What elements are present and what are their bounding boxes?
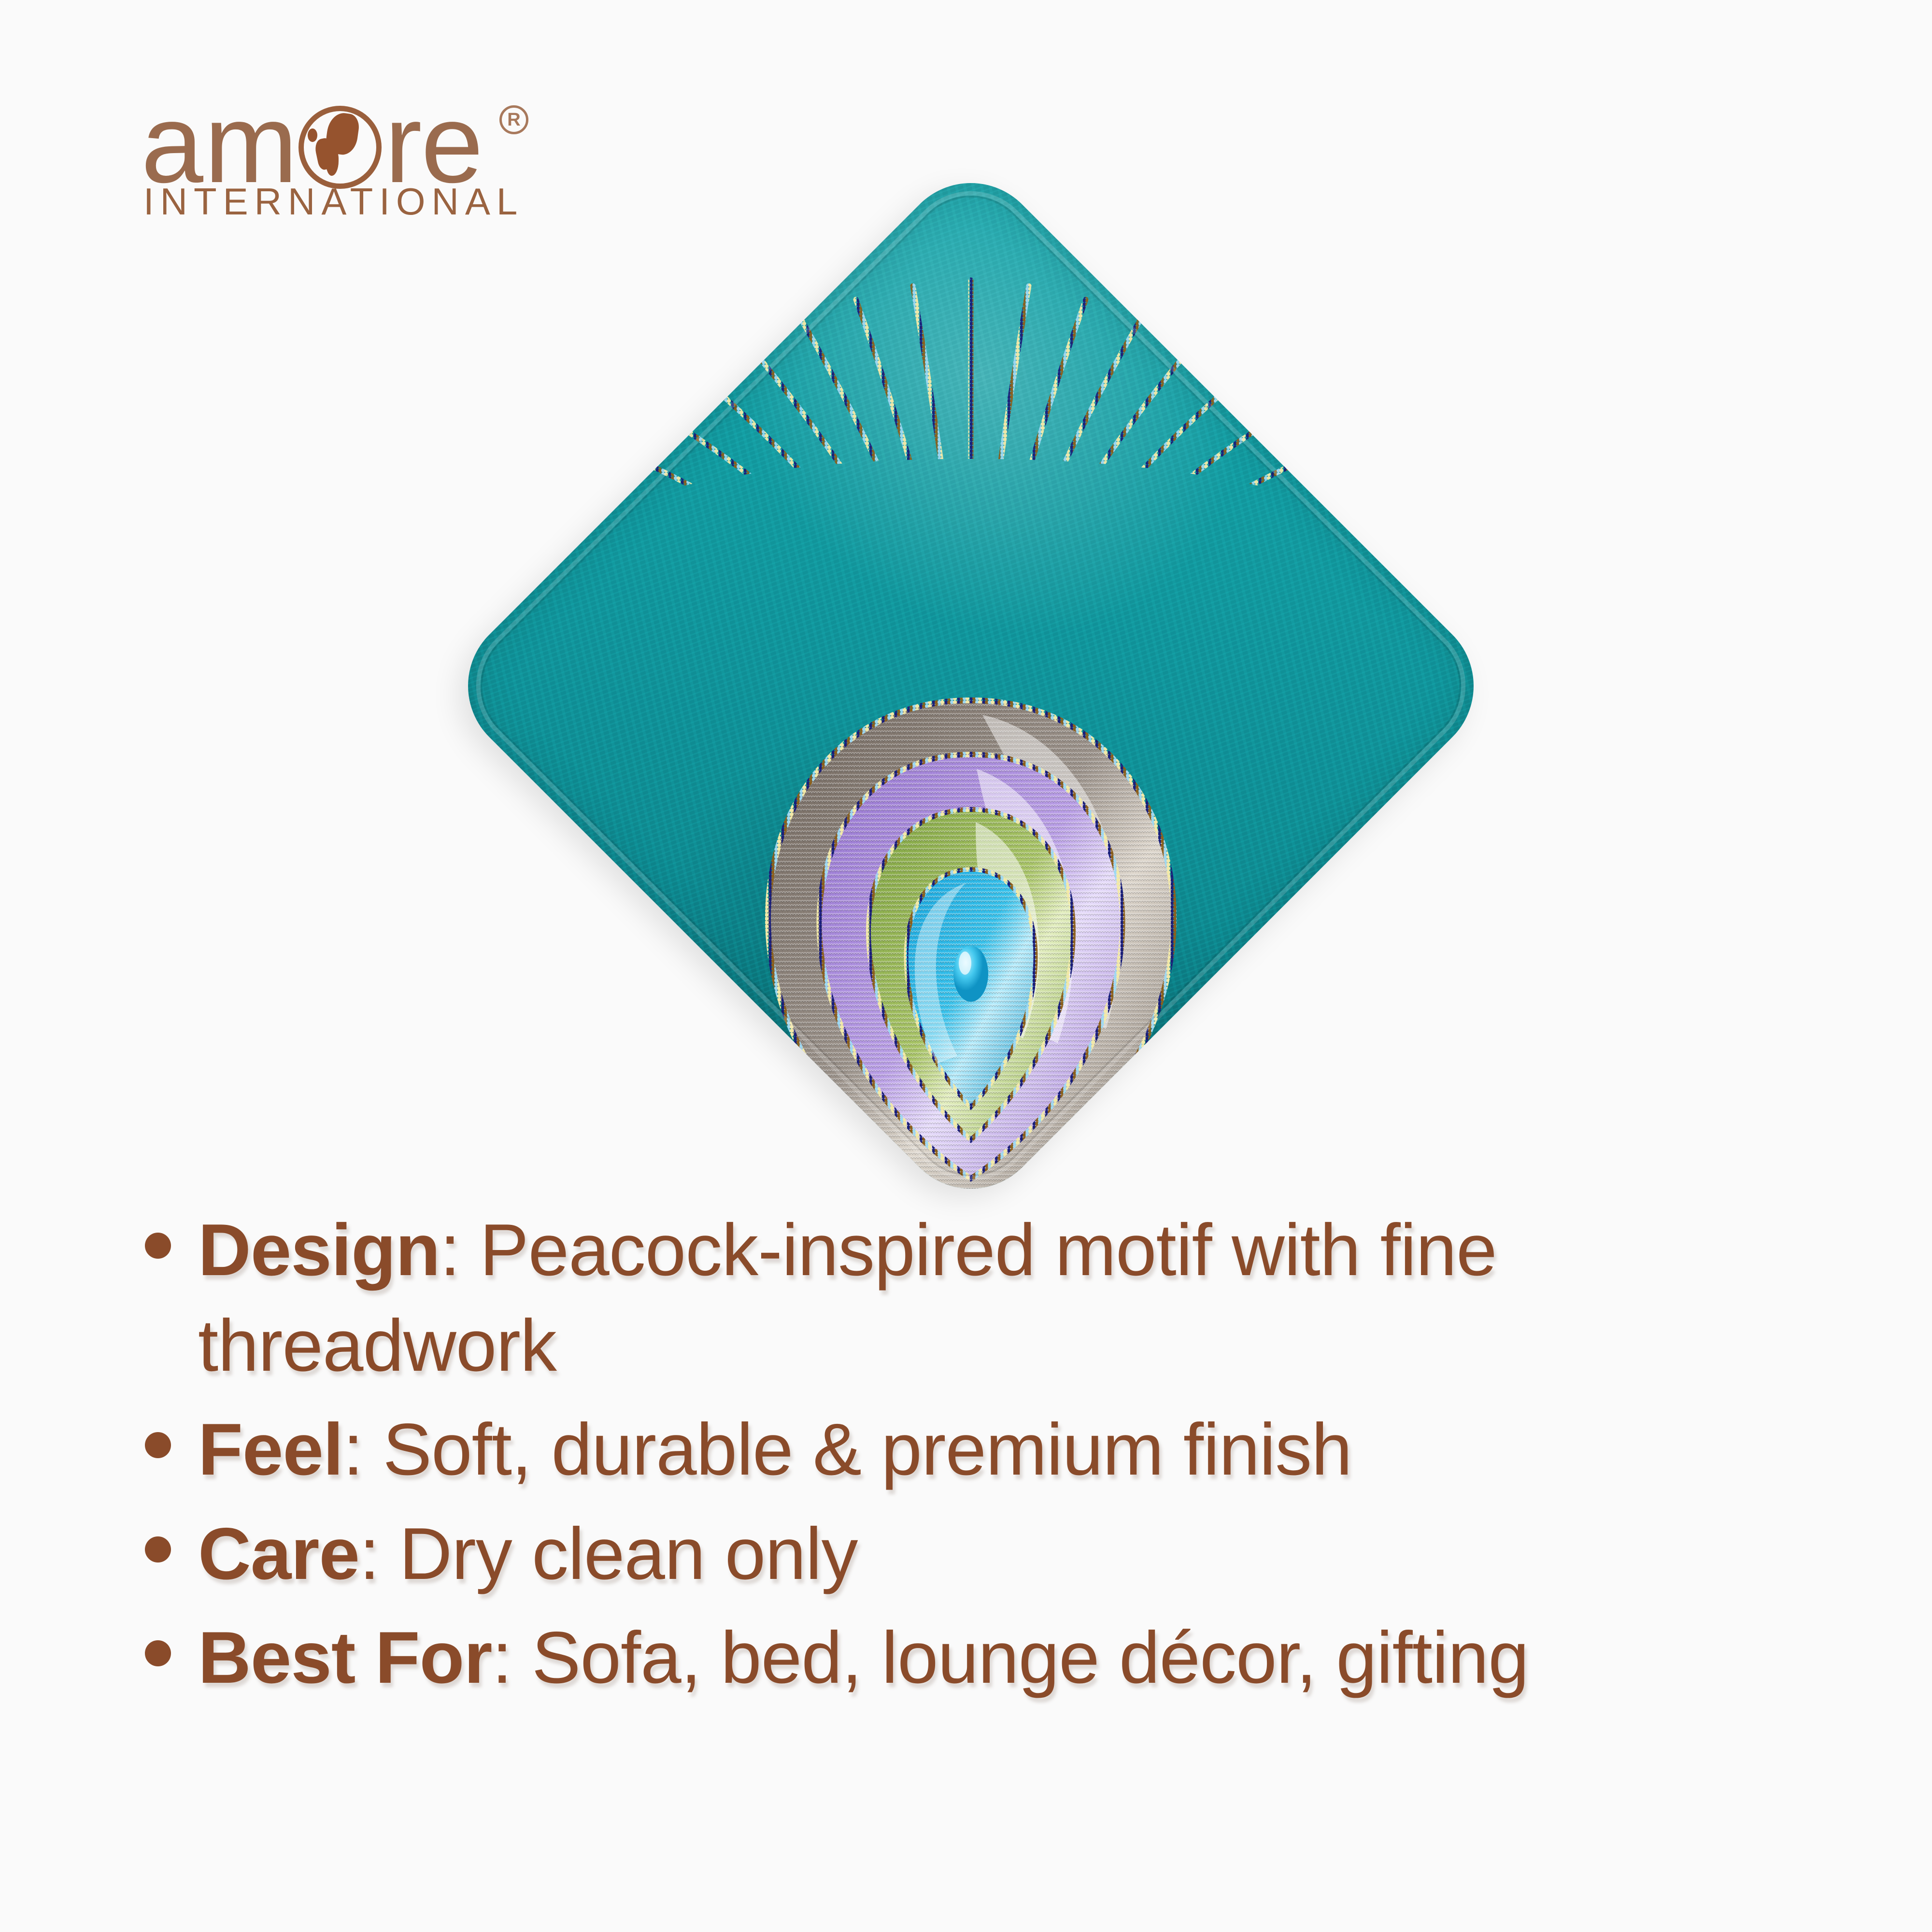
feature-label: Design [198,1209,440,1291]
feature-label: Care [198,1513,359,1595]
motif-highlight-taupe [982,715,1120,1029]
feature-list: Design: Peacock-inspired motif with fine… [145,1203,1826,1715]
feature-text: Best For: Sofa, bed, lounge décor, gifti… [198,1610,1826,1706]
list-item: Design: Peacock-inspired motif with fine… [145,1203,1826,1393]
registered-trademark-icon: R [499,105,528,134]
center-gem [953,946,988,1002]
list-item: Feel: Soft, durable & premium finish [145,1402,1826,1498]
motif-band-green [868,810,1073,1140]
feature-label: Best For [198,1617,492,1699]
bullet-dot-icon [145,1536,171,1563]
motif-highlight-lavender [977,769,1074,1043]
bullet-dot-icon [145,1640,171,1666]
feature-label: Feel [198,1408,343,1491]
motif-band-taupe [768,700,1174,1212]
feature-value: : Soft, durable & premium finish [343,1408,1352,1491]
feature-text: Design: Peacock-inspired motif with fine… [198,1203,1826,1393]
product-marketing-page: amre R INTERNATIONAL [0,0,1932,1932]
motif-band-cyan [906,869,1036,1107]
motif-highlight-green [976,822,1039,1038]
silk-sheen-overlay [438,153,1504,1219]
feature-text: Feel: Soft, durable & premium finish [198,1402,1826,1498]
cushion-cover [438,153,1504,1219]
embroidery-stage [438,159,1504,1212]
motif-band-lavender [819,754,1122,1179]
feature-text: Care: Dry clean only [198,1506,1826,1602]
list-item: Care: Dry clean only [145,1506,1826,1602]
feature-value: : Sofa, bed, lounge décor, gifting [492,1617,1529,1699]
bullet-dot-icon [145,1233,171,1259]
peacock-eye-motif [438,159,1504,1212]
feature-value: : Dry clean only [359,1513,858,1595]
list-item: Best For: Sofa, bed, lounge décor, gifti… [145,1610,1826,1706]
beaded-rays [438,159,1504,1212]
bullet-dot-icon [145,1432,171,1458]
product-image [304,159,1637,1212]
